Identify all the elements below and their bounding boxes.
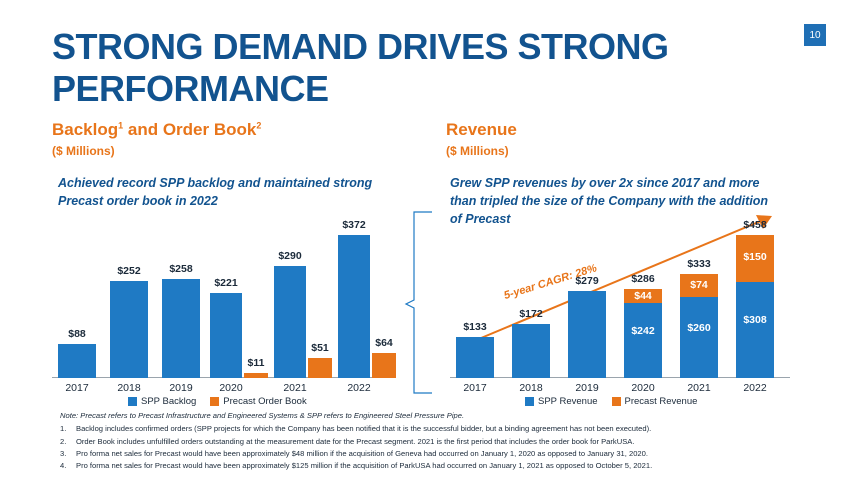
revenue-total-label-2017: $133 (456, 321, 494, 333)
backlog-legend-label-order: Precast Order Book (223, 396, 306, 407)
left-callout: Achieved record SPP backlog and maintain… (58, 174, 388, 210)
revenue-bar-2020-spp: $242 (624, 303, 662, 378)
backlog-label-2022: $372 (334, 219, 374, 231)
backlog-tick-2020: 2020 (212, 382, 250, 394)
backlog-bar-2022 (338, 235, 370, 378)
revenue-bar-2019-spp (568, 291, 606, 378)
left-heading-main: Backlog (52, 120, 118, 139)
backlog-tick-2018: 2018 (110, 382, 148, 394)
revenue-precast-label-2021: $74 (680, 279, 718, 291)
backlog-bar-2017-spp (58, 344, 96, 378)
legend-swatch-icon-orange-2 (612, 397, 621, 406)
left-heading-sup-2: 2 (256, 120, 261, 130)
backlog-bar-2020-order (244, 373, 268, 378)
backlog-bar-2021-order (308, 358, 332, 378)
backlog-legend-item-spp: SPP Backlog (128, 396, 196, 407)
revenue-bar-2021: $74 $260 (680, 274, 718, 378)
backlog-legend: SPP Backlog Precast Order Book (128, 396, 317, 407)
right-chart-subheading: ($ Millions) (446, 144, 509, 158)
backlog-tick-2017: 2017 (58, 382, 96, 394)
legend-swatch-icon-blue-2 (525, 397, 534, 406)
backlog-bar-2022-spp (338, 235, 370, 378)
footnote-1-text: Backlog includes confirmed orders (SPP p… (76, 423, 830, 435)
page-number-badge: 10 (804, 24, 826, 46)
revenue-legend-label-spp: SPP Revenue (538, 396, 598, 407)
legend-swatch-icon-orange (210, 397, 219, 406)
footnote-4-num: 4. (60, 460, 76, 472)
revenue-total-label-2019: $279 (568, 275, 606, 287)
revenue-legend-item-spp: SPP Revenue (525, 396, 598, 407)
backlog-bar-2022-order-seg (372, 353, 396, 378)
backlog-chart: $88 $252 $258 $221 $11 (52, 228, 392, 378)
revenue-total-label-2022: $458 (736, 219, 774, 231)
backlog-label-2019: $258 (162, 263, 200, 275)
backlog-orderlabel-2020: $11 (238, 357, 274, 369)
revenue-total-label-2020: $286 (624, 273, 662, 285)
revenue-legend-label-precast: Precast Revenue (625, 396, 698, 407)
backlog-bar-2019-spp (162, 279, 200, 378)
revenue-tick-2019: 2019 (568, 382, 606, 394)
left-chart-subheading: ($ Millions) (52, 144, 115, 158)
backlog-orderlabel-2021: $51 (302, 342, 338, 354)
revenue-precast-label-2020: $44 (624, 290, 662, 302)
backlog-label-2018: $252 (110, 265, 148, 277)
revenue-legend: SPP Revenue Precast Revenue (525, 396, 707, 407)
revenue-bar-2020: $44 $242 (624, 289, 662, 378)
footnote-2-num: 2. (60, 436, 76, 448)
revenue-spp-label-2021: $260 (680, 322, 718, 334)
backlog-label-2021: $290 (270, 250, 310, 262)
backlog-orderlabel-2022: $64 (366, 337, 402, 349)
backlog-legend-label-spp: SPP Backlog (141, 396, 196, 407)
footnote-3-num: 3. (60, 448, 76, 460)
revenue-bar-2020-precast: $44 (624, 289, 662, 303)
right-chart-heading: Revenue (446, 120, 517, 140)
revenue-spp-label-2022: $308 (736, 314, 774, 326)
backlog-bar-2022-order (372, 353, 396, 378)
footnote-4: 4. Pro forma net sales for Precast would… (60, 460, 830, 472)
backlog-tick-2021: 2021 (276, 382, 314, 394)
backlog-tick-2019: 2019 (162, 382, 200, 394)
revenue-tick-2018: 2018 (512, 382, 550, 394)
left-chart-heading: Backlog1 and Order Book2 (52, 120, 261, 140)
backlog-plot: $88 $252 $258 $221 $11 (52, 228, 392, 378)
revenue-total-label-2021: $333 (680, 258, 718, 270)
revenue-bar-2021-precast: $74 (680, 274, 718, 297)
footnotes: Note: Precast refers to Precast Infrastr… (60, 410, 830, 472)
footnote-1: 1. Backlog includes confirmed orders (SP… (60, 423, 830, 435)
backlog-bar-2020-order-seg (244, 373, 268, 378)
connector-bracket-icon (404, 210, 434, 395)
footnote-3-text: Pro forma net sales for Precast would ha… (76, 448, 830, 460)
backlog-bar-2017 (58, 344, 96, 378)
backlog-legend-item-order: Precast Order Book (210, 396, 306, 407)
revenue-legend-item-precast: Precast Revenue (612, 396, 698, 407)
revenue-bar-2018 (512, 324, 550, 378)
footnote-2-text: Order Book includes unfulfilled orders o… (76, 436, 830, 448)
revenue-bar-2022-precast: $150 (736, 235, 774, 282)
footnote-4-text: Pro forma net sales for Precast would ha… (76, 460, 830, 472)
revenue-bar-2019 (568, 291, 606, 378)
page-title: STRONG DEMAND DRIVES STRONG PERFORMANCE (52, 26, 772, 111)
revenue-spp-label-2020: $242 (624, 325, 662, 337)
revenue-bar-2018-spp (512, 324, 550, 378)
backlog-bar-2021-spp (274, 266, 306, 378)
footnote-2: 2. Order Book includes unfulfilled order… (60, 436, 830, 448)
backlog-bar-2018-spp (110, 281, 148, 378)
backlog-bar-2021-order-seg (308, 358, 332, 378)
legend-swatch-icon-blue (128, 397, 137, 406)
revenue-total-label-2018: $172 (512, 308, 550, 320)
revenue-bar-2017-spp (456, 337, 494, 378)
revenue-tick-2020: 2020 (624, 382, 662, 394)
revenue-chart: 5-year CAGR: 28% $133 $172 $279 $44 (450, 228, 790, 378)
revenue-plot: 5-year CAGR: 28% $133 $172 $279 $44 (450, 228, 790, 378)
revenue-precast-label-2022: $150 (736, 251, 774, 263)
footnote-3: 3. Pro forma net sales for Precast would… (60, 448, 830, 460)
revenue-bar-2021-spp: $260 (680, 297, 718, 378)
revenue-tick-2021: 2021 (680, 382, 718, 394)
slide: 10 STRONG DEMAND DRIVES STRONG PERFORMAN… (0, 0, 850, 478)
revenue-bar-2022-spp: $308 (736, 282, 774, 378)
backlog-bar-2018 (110, 281, 148, 378)
left-heading-mid: and Order Book (123, 120, 256, 139)
footnote-1-num: 1. (60, 423, 76, 435)
revenue-tick-2022: 2022 (736, 382, 774, 394)
revenue-tick-2017: 2017 (456, 382, 494, 394)
revenue-bar-2022: $150 $308 (736, 235, 774, 378)
backlog-tick-2022: 2022 (340, 382, 378, 394)
backlog-bar-2019 (162, 279, 200, 378)
footnote-intro: Note: Precast refers to Precast Infrastr… (60, 410, 830, 422)
backlog-bar-2021 (274, 266, 306, 378)
backlog-label-2020: $221 (206, 277, 246, 289)
revenue-bar-2017 (456, 337, 494, 378)
backlog-label-2017: $88 (58, 328, 96, 340)
